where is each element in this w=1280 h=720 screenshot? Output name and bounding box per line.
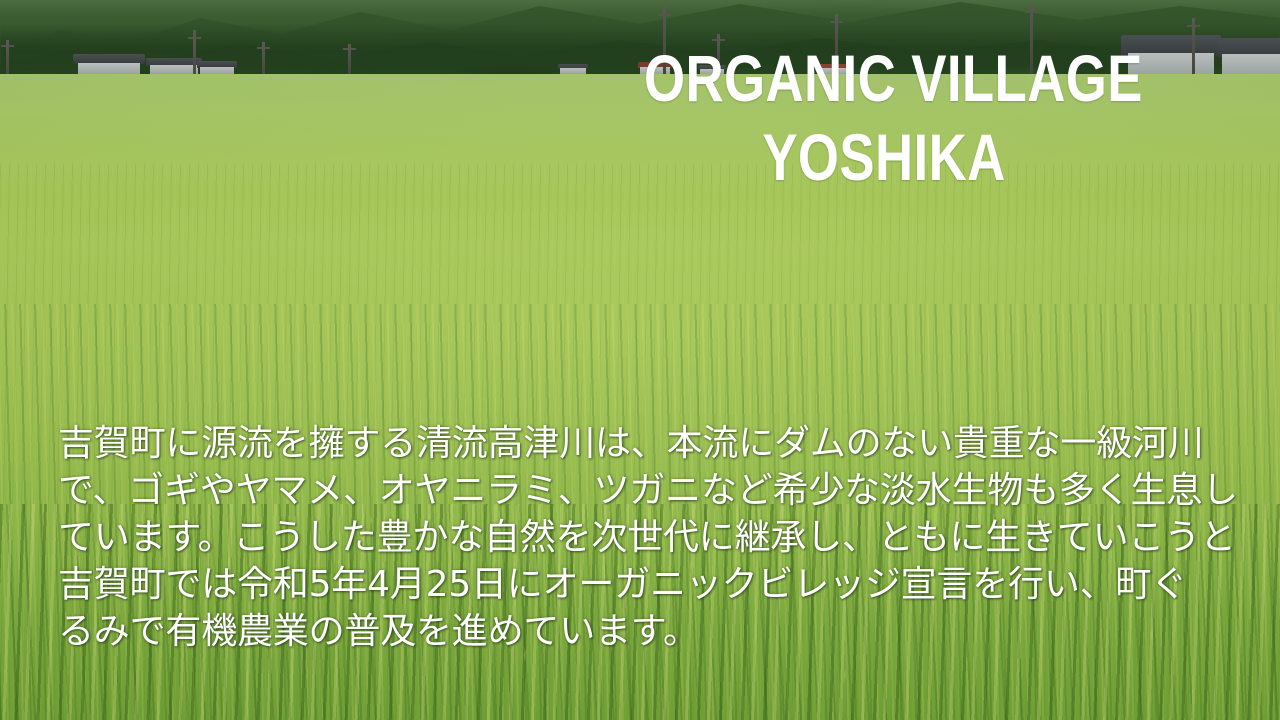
farmhouse	[150, 58, 198, 74]
title-line-yoshika: YOSHIKA	[644, 125, 1124, 190]
description-line-5: るみで有機農業の普及を進めています。	[58, 608, 1234, 655]
house-wall	[200, 67, 234, 74]
description-paragraph: 吉賀町に源流を擁する清流高津川は、本流にダムのない貴重な一級河川 で、ゴギやヤマ…	[58, 420, 1234, 655]
utility-pole	[348, 44, 351, 78]
utility-pole	[1192, 18, 1195, 76]
house-wall	[78, 63, 140, 74]
banner-title: ORGANIC VILLAGE YOSHIKA	[584, 46, 1184, 189]
farmhouse	[78, 54, 140, 74]
village-building	[560, 64, 586, 74]
house-wall	[1222, 54, 1280, 75]
farmhouse	[200, 61, 234, 74]
house-wall	[150, 65, 198, 74]
two-storey-house	[1222, 38, 1280, 75]
title-line-organic-village: ORGANIC VILLAGE	[644, 46, 1124, 111]
description-line-3: ています。こうした豊かな自然を次世代に継承し、ともに生きていこうと	[58, 514, 1234, 561]
description-line-4: 吉賀町では令和5年4月25日にオーガニックビレッジ宣言を行い、町ぐ	[58, 561, 1234, 608]
organic-village-banner: ORGANIC VILLAGE YOSHIKA 吉賀町に源流を擁する清流高津川は…	[0, 0, 1280, 720]
description-line-1: 吉賀町に源流を擁する清流高津川は、本流にダムのない貴重な一級河川	[58, 420, 1234, 467]
description-line-2: で、ゴギやヤマメ、オヤニラミ、ツガニなど希少な淡水生物も多く生息し	[58, 467, 1234, 514]
